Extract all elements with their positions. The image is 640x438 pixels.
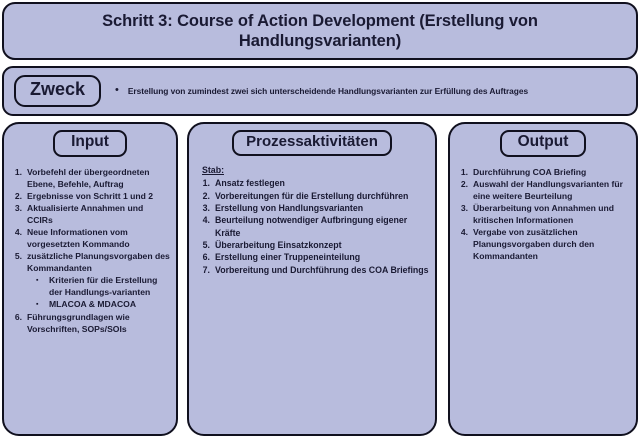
input-list: 1. Vorbefehl der übergeordneten Ebene, B… — [10, 166, 170, 274]
list-item-text: Vorbereitungen für die Erstellung durchf… — [215, 190, 429, 202]
list-item-text: Beurteilung notwendiger Aufbringung eige… — [215, 214, 429, 239]
column-input-header: Input — [53, 130, 127, 157]
square-bullet-icon: ▪ — [36, 298, 49, 311]
list-item: 3. Erstellung von Handlungsvarianten — [198, 202, 429, 214]
list-marker: 6. — [198, 251, 215, 263]
list-marker: 1. — [456, 166, 473, 178]
list-item-text: Vergabe von zusätzlichen Planungsvorgabe… — [473, 226, 628, 262]
list-item: 2. Vorbereitungen für die Erstellung dur… — [198, 190, 429, 202]
list-item-text: Erstellung einer Truppeneinteilung — [215, 251, 429, 263]
list-item: 2. Ergebnisse von Schritt 1 und 2 — [10, 190, 170, 202]
list-item-text: Auswahl der Handlungsvarianten für eine … — [473, 178, 628, 202]
list-item-text: Erstellung von Handlungsvarianten — [215, 202, 429, 214]
list-item: 1. Durchführung COA Briefing — [456, 166, 628, 178]
purpose-bar: Zweck • Erstellung von zumindest zwei si… — [2, 66, 638, 116]
input-sub-list: ▪ Kriterien für die Erstellung der Handl… — [10, 274, 170, 311]
list-item: 3. Überarbeitung von Annahmen und kritis… — [456, 202, 628, 226]
list-item-text: zusätzliche Planungsvorgaben des Kommand… — [27, 250, 170, 274]
purpose-label: Zweck — [14, 75, 101, 107]
list-item-text: Ansatz festlegen — [215, 177, 429, 189]
column-input-body: 1. Vorbefehl der übergeordneten Ebene, B… — [4, 157, 176, 336]
list-item-text: Ergebnisse von Schritt 1 und 2 — [27, 190, 170, 202]
list-item: 4. Beurteilung notwendiger Aufbringung e… — [198, 214, 429, 239]
list-marker: 2. — [456, 178, 473, 190]
list-item: 4. Vergabe von zusätzlichen Planungsvorg… — [456, 226, 628, 262]
bullet-icon: • — [115, 85, 119, 96]
column-process-header-wrap: Prozessaktivitäten — [189, 124, 435, 156]
list-marker: 3. — [456, 202, 473, 214]
column-output-body: 1. Durchführung COA Briefing 2. Auswahl … — [450, 157, 636, 262]
list-item-text: Führungsgrundlagen wie Vorschriften, SOP… — [27, 311, 170, 335]
list-marker: 5. — [10, 250, 27, 262]
list-item: 1. Ansatz festlegen — [198, 177, 429, 189]
sub-list-item: ▪ MLACOA & MDACOA — [36, 298, 170, 311]
list-marker: 3. — [10, 202, 27, 214]
column-input: Input 1. Vorbefehl der übergeordneten Eb… — [2, 122, 178, 436]
column-output-header-wrap: Output — [450, 124, 636, 157]
sub-list-item-text: MLACOA & MDACOA — [49, 298, 170, 310]
list-item-text: Vorbereitung und Durchführung des COA Br… — [215, 264, 429, 276]
column-output: Output 1. Durchführung COA Briefing 2. A… — [448, 122, 638, 436]
list-marker: 4. — [198, 214, 215, 226]
column-process-body: Stab: 1. Ansatz festlegen 2. Vorbereitun… — [189, 156, 435, 276]
list-marker: 6. — [10, 311, 27, 323]
process-list: 1. Ansatz festlegen 2. Vorbereitungen fü… — [198, 177, 429, 276]
list-item-text: Überarbeitung Einsatzkonzept — [215, 239, 429, 251]
list-marker: 1. — [198, 177, 215, 189]
process-section-label: Stab: — [202, 164, 429, 176]
list-marker: 5. — [198, 239, 215, 251]
list-item-text: Durchführung COA Briefing — [473, 166, 628, 178]
step-title-box: Schritt 3: Course of Action Development … — [2, 2, 638, 60]
list-item: 5. Überarbeitung Einsatzkonzept — [198, 239, 429, 251]
list-marker: 2. — [10, 190, 27, 202]
list-item: 6. Führungsgrundlagen wie Vorschriften, … — [10, 311, 170, 335]
sub-list-item: ▪ Kriterien für die Erstellung der Handl… — [36, 274, 170, 298]
list-item: 4. Neue Informationen vom vorgesetzten K… — [10, 226, 170, 250]
list-item: 3. Aktualisierte Annahmen und CCIRs — [10, 202, 170, 226]
purpose-text-row: • Erstellung von zumindest zwei sich unt… — [115, 86, 636, 97]
page-title: Schritt 3: Course of Action Development … — [4, 11, 636, 51]
list-marker: 1. — [10, 166, 27, 178]
list-marker: 4. — [456, 226, 473, 238]
list-item: 6. Erstellung einer Truppeneinteilung — [198, 251, 429, 263]
list-marker: 2. — [198, 190, 215, 202]
list-marker: 4. — [10, 226, 27, 238]
list-marker: 3. — [198, 202, 215, 214]
input-list-continued: 6. Führungsgrundlagen wie Vorschriften, … — [10, 311, 170, 335]
sub-list-item-text: Kriterien für die Erstellung der Handlun… — [49, 274, 170, 298]
list-item-text: Neue Informationen vom vorgesetzten Komm… — [27, 226, 170, 250]
list-item: 7. Vorbereitung und Durchführung des COA… — [198, 264, 429, 276]
column-output-header: Output — [500, 130, 587, 157]
column-process-activities: Prozessaktivitäten Stab: 1. Ansatz festl… — [187, 122, 437, 436]
list-item: 5. zusätzliche Planungsvorgaben des Komm… — [10, 250, 170, 274]
purpose-text: Erstellung von zumindest zwei sich unter… — [128, 86, 528, 97]
column-process-header: Prozessaktivitäten — [232, 130, 392, 156]
list-item: 2. Auswahl der Handlungsvarianten für ei… — [456, 178, 628, 202]
list-item-text: Überarbeitung von Annahmen und kritische… — [473, 202, 628, 226]
column-input-header-wrap: Input — [4, 124, 176, 157]
square-bullet-icon: ▪ — [36, 274, 49, 287]
list-item: 1. Vorbefehl der übergeordneten Ebene, B… — [10, 166, 170, 190]
output-list: 1. Durchführung COA Briefing 2. Auswahl … — [456, 166, 628, 262]
list-item-text: Vorbefehl der übergeordneten Ebene, Befe… — [27, 166, 170, 190]
list-marker: 7. — [198, 264, 215, 276]
list-item-text: Aktualisierte Annahmen und CCIRs — [27, 202, 170, 226]
